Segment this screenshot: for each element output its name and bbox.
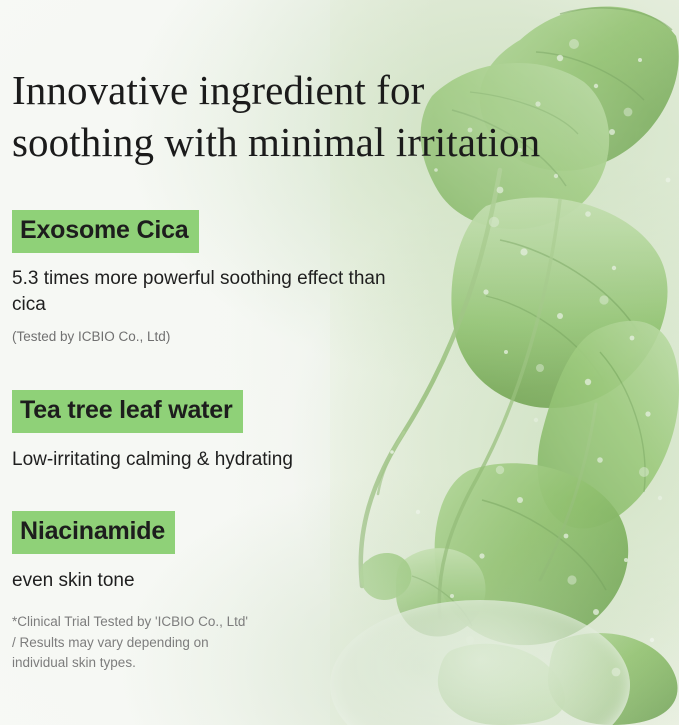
headline-line-2: soothing with minimal irritation <box>12 116 652 168</box>
disclaimer-line-3: individual skin types. <box>12 653 248 674</box>
ingredient-description: Low-irritating calming & hydrating <box>12 447 392 473</box>
ingredient-list: Exosome Cica 5.3 times more powerful soo… <box>12 210 679 594</box>
ingredient-description: 5.3 times more powerful soothing effect … <box>12 266 392 318</box>
legal-disclaimer: *Clinical Trial Tested by 'ICBIO Co., Lt… <box>12 612 248 674</box>
disclaimer-line-1: *Clinical Trial Tested by 'ICBIO Co., Lt… <box>12 612 248 633</box>
disclaimer-line-2: / Results may vary depending on <box>12 633 248 654</box>
headline-line-1: Innovative ingredient for <box>12 67 424 113</box>
ingredient-tag: Exosome Cica <box>12 210 199 253</box>
ingredient-tag: Tea tree leaf water <box>12 390 243 433</box>
ingredient-note: (Tested by ICBIO Co., Ltd) <box>12 328 679 346</box>
ingredient-item-tea-tree-leaf-water: Tea tree leaf water Low-irritating calmi… <box>12 390 679 473</box>
product-ingredient-poster: Innovative ingredient for soothing with … <box>0 0 679 725</box>
page-title: Innovative ingredient for soothing with … <box>12 64 652 168</box>
ingredient-tag: Niacinamide <box>12 511 175 554</box>
ingredient-item-niacinamide: Niacinamide even skin tone <box>12 511 679 594</box>
ingredient-item-exosome-cica: Exosome Cica 5.3 times more powerful soo… <box>12 210 679 345</box>
text-content: Innovative ingredient for soothing with … <box>0 0 679 595</box>
ingredient-description: even skin tone <box>12 568 392 594</box>
